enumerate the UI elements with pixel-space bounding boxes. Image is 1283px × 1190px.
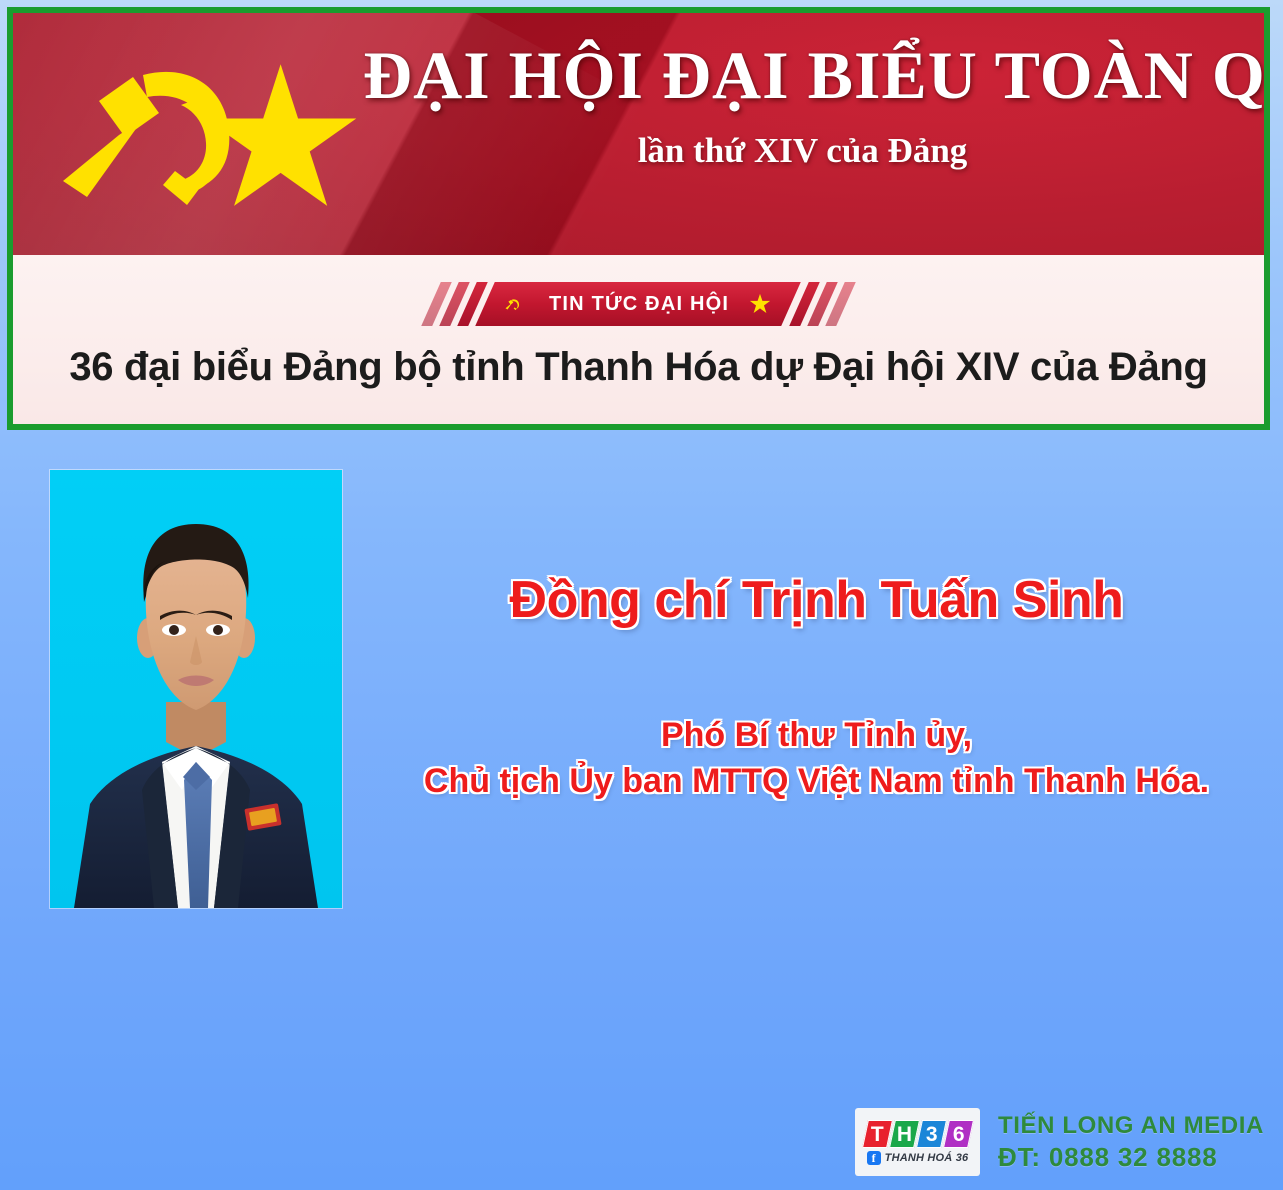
logo-tile-char: T <box>871 1123 884 1144</box>
banner-subtitle: lần thứ XIV của Đảng <box>363 131 1242 171</box>
person-role-line-2: Chủ tịch Ủy ban MTTQ Việt Nam tỉnh Thanh… <box>360 758 1273 804</box>
news-headline: 36 đại biểu Đảng bộ tỉnh Thanh Hóa dự Đạ… <box>33 345 1244 390</box>
logo-tile-6: 6 <box>943 1120 974 1148</box>
logo-subtitle-row: f THANH HOÁ 36 <box>867 1151 969 1165</box>
media-name: TIẾN LONG AN MEDIA <box>998 1111 1264 1141</box>
portrait-illustration <box>50 470 342 908</box>
logo-tiles: T H 3 6 <box>865 1120 971 1148</box>
banner-title: ĐẠI HỘI ĐẠI BIỂU TOÀN QUỐC <box>363 41 1242 109</box>
footer: T H 3 6 f THANH HOÁ 36 TIẾN LONG AN MEDI… <box>855 1108 1264 1176</box>
logo-tile-char: 3 <box>925 1123 937 1144</box>
th36-logo: T H 3 6 f THANH HOÁ 36 <box>855 1108 980 1176</box>
logo-tile-h: H <box>889 1120 920 1148</box>
facebook-icon: f <box>867 1151 881 1165</box>
news-badge: TIN TỨC ĐẠI HỘI <box>431 282 845 326</box>
hammer-sickle-and-star-icon <box>47 39 357 229</box>
logo-tile-3: 3 <box>916 1120 947 1148</box>
facebook-page-label: THANH HOÁ 36 <box>885 1152 969 1164</box>
badge-label: TIN TỨC ĐẠI HỘI <box>549 293 729 316</box>
badge-core: TIN TỨC ĐẠI HỘI <box>476 282 802 326</box>
badge-right-stripes <box>792 282 846 326</box>
news-strip: TIN TỨC ĐẠI HỘI 36 đại biểu Đảng bộ tỉnh… <box>13 255 1264 430</box>
badge-inner: TIN TỨC ĐẠI HỘI <box>505 292 771 316</box>
yellow-star-icon <box>750 293 772 315</box>
banner-text-block: ĐẠI HỘI ĐẠI BIỂU TOÀN QUỐC lần thứ XIV c… <box>363 41 1242 171</box>
logo-tile-char: 6 <box>952 1123 964 1144</box>
media-phone: ĐT: 0888 32 8888 <box>998 1141 1264 1174</box>
person-role-line-1: Phó Bí thư Tỉnh ủy, <box>360 712 1273 758</box>
person-name: Đồng chí Trịnh Tuấn Sinh <box>360 570 1273 630</box>
media-credit: TIẾN LONG AN MEDIA ĐT: 0888 32 8888 <box>998 1111 1264 1174</box>
portrait-photo <box>50 470 342 908</box>
party-emblem <box>47 39 357 229</box>
logo-tile-t: T <box>862 1120 893 1148</box>
congress-banner-frame: ĐẠI HỘI ĐẠI BIỂU TOÀN QUỐC lần thứ XIV c… <box>7 7 1270 430</box>
hammer-sickle-icon <box>505 292 529 316</box>
news-badge-wrapper: TIN TỨC ĐẠI HỘI <box>13 280 1264 328</box>
logo-tile-char: H <box>896 1123 911 1144</box>
person-role: Phó Bí thư Tỉnh ủy, Chủ tịch Ủy ban MTTQ… <box>360 712 1273 804</box>
person-text-block: Đồng chí Trịnh Tuấn Sinh Phó Bí thư Tỉnh… <box>360 570 1273 804</box>
congress-red-banner: ĐẠI HỘI ĐẠI BIỂU TOÀN QUỐC lần thứ XIV c… <box>13 13 1264 255</box>
